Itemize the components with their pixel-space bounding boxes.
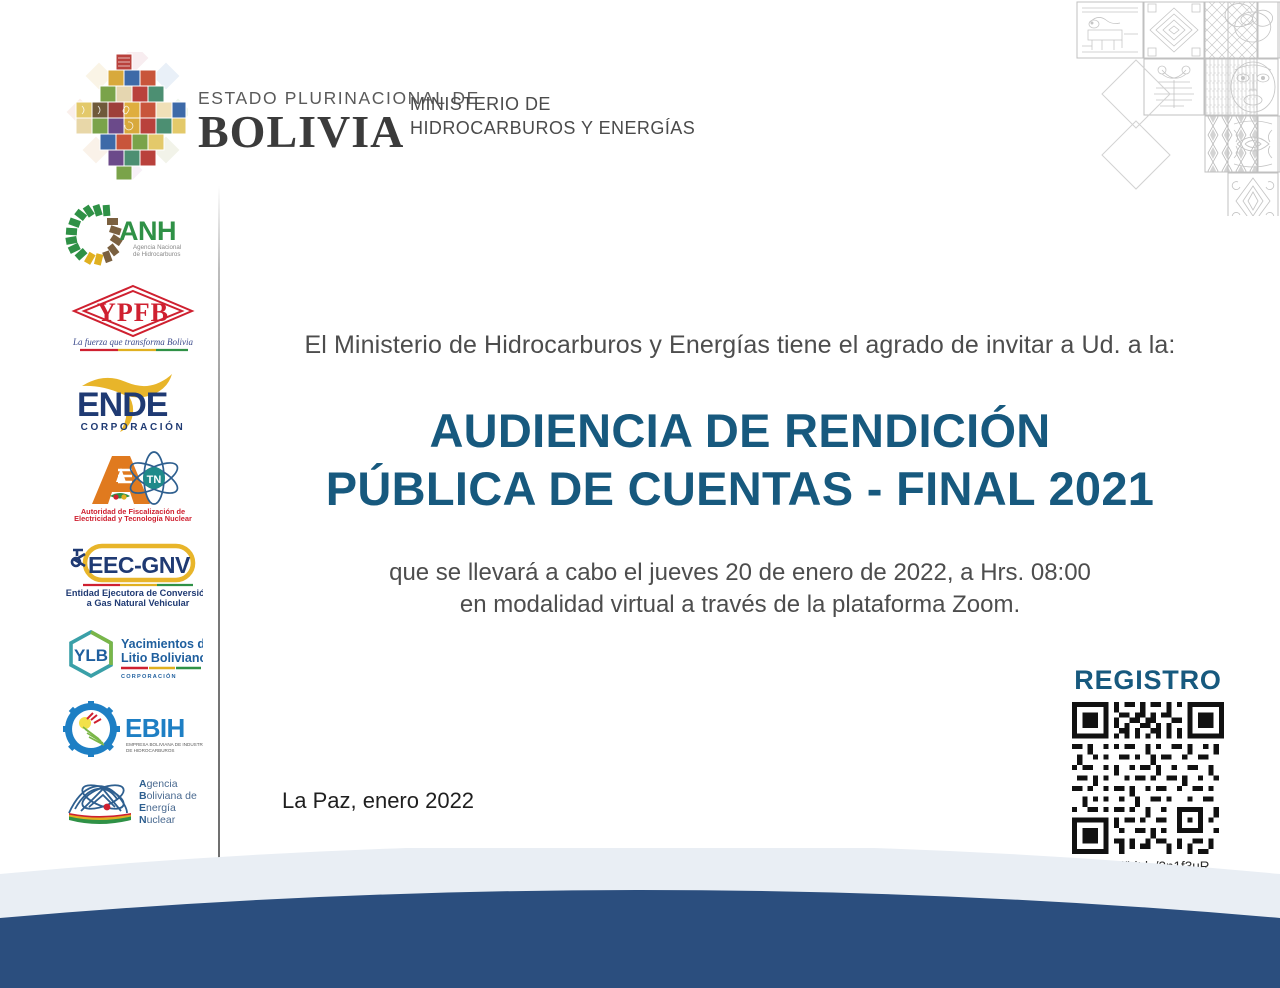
logo-eec-gnv: EEC-GNV Entidad Ejecutora de Conversión …	[58, 530, 208, 616]
invitation-body: El Ministerio de Hidrocarburos y Energía…	[240, 196, 1240, 621]
svg-text:Agencia Nacional: Agencia Nacional	[133, 244, 181, 251]
svg-text:Agencia: Agencia	[139, 778, 178, 790]
svg-text:La fuerza que transforma Boliv: La fuerza que transforma Bolivia	[72, 337, 194, 347]
logo-aetn: TN Autoridad de Fiscalización de Electri…	[58, 444, 208, 530]
bottom-wave-banner	[0, 848, 1280, 988]
svg-text:YLB: YLB	[74, 646, 108, 665]
invitation-line: El Ministerio de Hidrocarburos y Energía…	[240, 331, 1240, 360]
event-modality: en modalidad virtual a través de la plat…	[240, 589, 1240, 621]
svg-text:TN: TN	[147, 474, 162, 486]
logo-ebih: EBIH EMPRESA BOLIVIANA DE INDUSTRIALIZAC…	[58, 692, 208, 766]
svg-text:a Gas Natural Vehicular: a Gas Natural Vehicular	[87, 598, 190, 608]
svg-text:de Hidrocarburos: de Hidrocarburos	[133, 251, 180, 258]
ministry-name: MINISTERIO DE HIDROCARBUROS Y ENERGÍAS	[410, 92, 695, 141]
event-details: que se llevará a cabo el jueves 20 de en…	[240, 557, 1240, 621]
chakana-andean-cross-emblem	[64, 52, 188, 180]
svg-text:EBIH: EBIH	[125, 713, 185, 743]
svg-text:Boliviana de: Boliviana de	[139, 790, 197, 802]
svg-text:CORPORACIÓN: CORPORACIÓN	[81, 420, 186, 433]
place-and-date: La Paz, enero 2022	[282, 788, 474, 814]
page-title: AUDIENCIA DE RENDICIÓN PÚBLICA DE CUENTA…	[240, 402, 1240, 519]
logo-anh: ANH Agencia Nacional de Hidrocarburos	[58, 196, 208, 274]
title-line-1: AUDIENCIA DE RENDICIÓN	[240, 402, 1240, 460]
event-datetime: que se llevará a cabo el jueves 20 de en…	[240, 557, 1240, 589]
logo-ypfb: YPFB La fuerza que transforma Bolivia	[58, 274, 208, 362]
invitation-page: ESTADO PLURINACIONAL DE BOLIVIA MINISTER…	[0, 0, 1280, 988]
title-line-2: PÚBLICA DE CUENTAS - FINAL 2021	[240, 460, 1240, 518]
registration-block: REGISTRO	[1068, 665, 1228, 874]
svg-text:EEC-GNV: EEC-GNV	[88, 552, 191, 578]
logo-aben: Agencia Boliviana de Energía Nuclear	[58, 766, 208, 836]
ministry-line-1: MINISTERIO DE	[410, 92, 695, 116]
registration-qr-code[interactable]	[1068, 702, 1228, 854]
svg-text:DE HIDROCARBUROS: DE HIDROCARBUROS	[126, 748, 175, 753]
logo-ylb: YLB Yacimientos de Litio Bolivianos CORP…	[58, 616, 208, 692]
svg-text:EMPRESA BOLIVIANA DE INDUSTRIA: EMPRESA BOLIVIANA DE INDUSTRIALIZACIÓN	[126, 741, 203, 747]
svg-text:Litio Bolivianos: Litio Bolivianos	[121, 651, 203, 665]
svg-text:Electricidad y Tecnología Nucl: Electricidad y Tecnología Nuclear	[74, 514, 192, 523]
page-header: ESTADO PLURINACIONAL DE BOLIVIA MINISTER…	[0, 0, 1040, 186]
svg-text:ENDE: ENDE	[77, 386, 168, 424]
svg-text:Yacimientos de: Yacimientos de	[121, 637, 203, 651]
svg-text:CORPORACIÓN: CORPORACIÓN	[121, 672, 177, 680]
svg-text:ANH: ANH	[119, 216, 176, 246]
svg-text:Nuclear: Nuclear	[139, 814, 176, 826]
institution-logo-column: ANH Agencia Nacional de Hidrocarburos YP…	[58, 196, 208, 836]
svg-text:Entidad Ejecutora de Conversió: Entidad Ejecutora de Conversión	[66, 588, 203, 598]
ministry-line-2: HIDROCARBUROS Y ENERGÍAS	[410, 116, 695, 140]
registro-label: REGISTRO	[1068, 665, 1228, 696]
vertical-divider	[218, 186, 220, 876]
svg-text:YPFB: YPFB	[97, 298, 169, 327]
logo-ende: ENDE CORPORACIÓN	[58, 362, 208, 444]
svg-text:Energía: Energía	[139, 802, 176, 814]
andean-motif-grid	[1052, 0, 1280, 216]
